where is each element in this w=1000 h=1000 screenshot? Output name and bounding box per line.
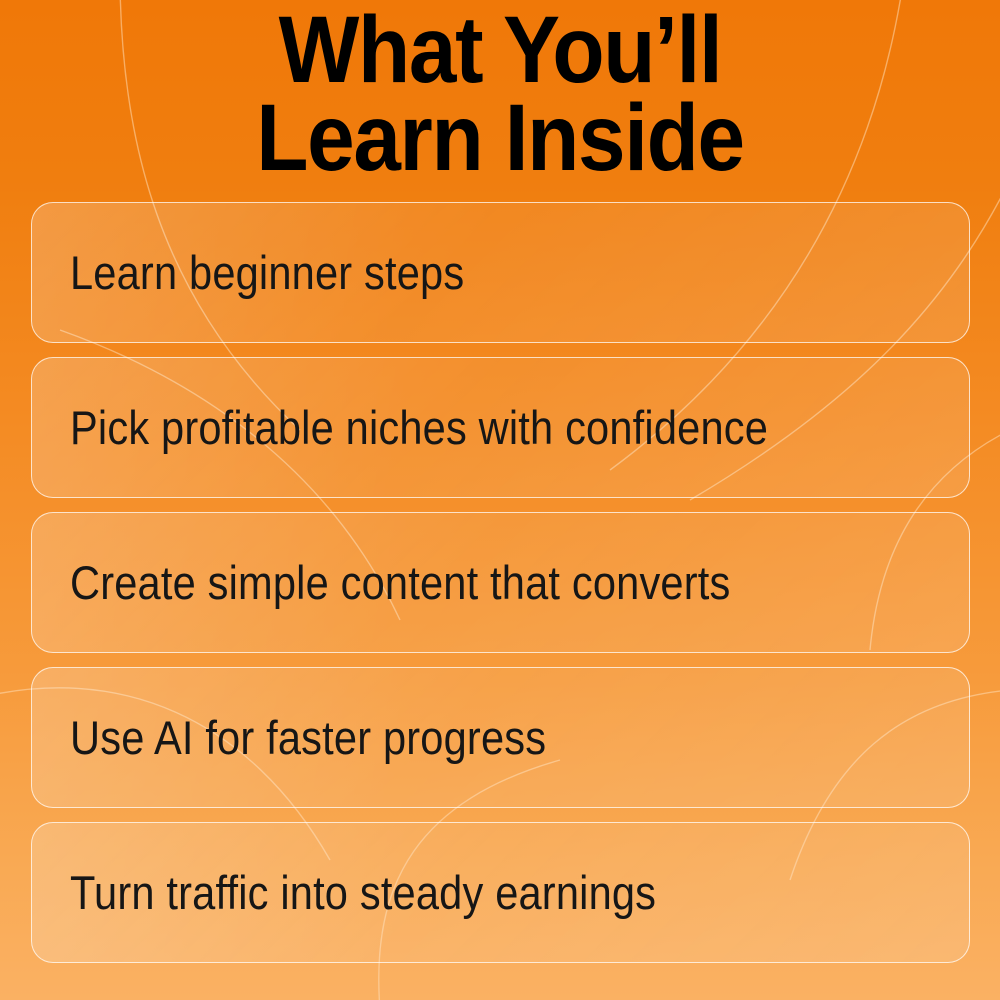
list-item[interactable]: Use AI for faster progress: [31, 667, 970, 808]
list-item[interactable]: Turn traffic into steady earnings: [31, 822, 970, 963]
page-title: What You’ll Learn Inside: [50, 6, 950, 183]
list-item-label: Use AI for faster progress: [70, 714, 546, 761]
learn-items-list: Learn beginner steps Pick profitable nic…: [31, 202, 970, 977]
list-item[interactable]: Learn beginner steps: [31, 202, 970, 343]
list-item[interactable]: Pick profitable niches with confidence: [31, 357, 970, 498]
list-item[interactable]: Create simple content that converts: [31, 512, 970, 653]
list-item-label: Learn beginner steps: [70, 249, 464, 296]
list-item-label: Pick profitable niches with confidence: [70, 404, 768, 451]
list-item-label: Turn traffic into steady earnings: [70, 869, 656, 916]
list-item-label: Create simple content that converts: [70, 559, 730, 606]
promo-poster: What You’ll Learn Inside Learn beginner …: [0, 0, 1000, 1000]
